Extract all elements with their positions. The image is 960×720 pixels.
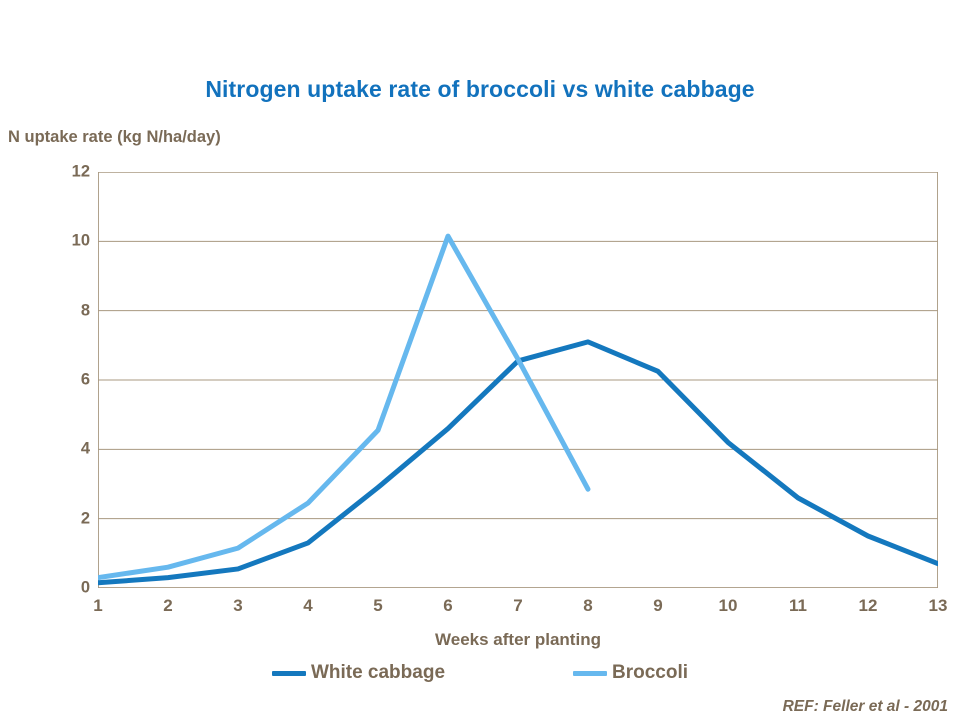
- chart-container: Nitrogen uptake rate of broccoli vs whit…: [0, 0, 960, 720]
- legend-swatch-icon: [272, 671, 306, 676]
- chart-legend: White cabbageBroccoli: [0, 662, 960, 684]
- x-tick-label: 9: [653, 596, 662, 616]
- x-tick-label: 3: [233, 596, 242, 616]
- legend-label: White cabbage: [311, 662, 445, 684]
- legend-item[interactable]: Broccoli: [573, 662, 688, 684]
- series-line-white-cabbage: [98, 342, 938, 583]
- x-tick-label: 10: [719, 596, 738, 616]
- x-tick-label: 2: [163, 596, 172, 616]
- x-tick-label: 7: [513, 596, 522, 616]
- series-line-broccoli: [98, 236, 588, 577]
- y-axis-title: N uptake rate (kg N/ha/day): [8, 128, 221, 147]
- plot-area: [98, 172, 938, 588]
- data-series-layer: [98, 236, 938, 583]
- x-tick-label: 5: [373, 596, 382, 616]
- legend-label: Broccoli: [612, 662, 688, 684]
- x-tick-label: 11: [789, 596, 807, 616]
- reference-note: REF: Feller et al - 2001: [783, 698, 948, 716]
- y-tick-label: 2: [50, 509, 90, 528]
- x-tick-label: 4: [303, 596, 312, 616]
- y-tick-label: 6: [50, 371, 90, 390]
- y-tick-label: 12: [50, 163, 90, 182]
- line-chart-svg: [98, 172, 938, 588]
- x-tick-label: 6: [443, 596, 452, 616]
- x-tick-label: 12: [859, 596, 878, 616]
- chart-title: Nitrogen uptake rate of broccoli vs whit…: [0, 76, 960, 103]
- y-axis-tick-labels: 024681012: [46, 172, 90, 588]
- x-tick-label: 1: [93, 596, 102, 616]
- x-tick-label: 8: [583, 596, 592, 616]
- gridlines: [98, 172, 938, 519]
- legend-item[interactable]: White cabbage: [272, 662, 445, 684]
- x-axis-title: Weeks after planting: [98, 630, 938, 650]
- x-tick-label: 13: [929, 596, 948, 616]
- legend-swatch-icon: [573, 671, 607, 676]
- y-tick-label: 8: [50, 301, 90, 320]
- y-tick-label: 0: [50, 579, 90, 598]
- y-tick-label: 10: [50, 232, 90, 251]
- y-tick-label: 4: [50, 440, 90, 459]
